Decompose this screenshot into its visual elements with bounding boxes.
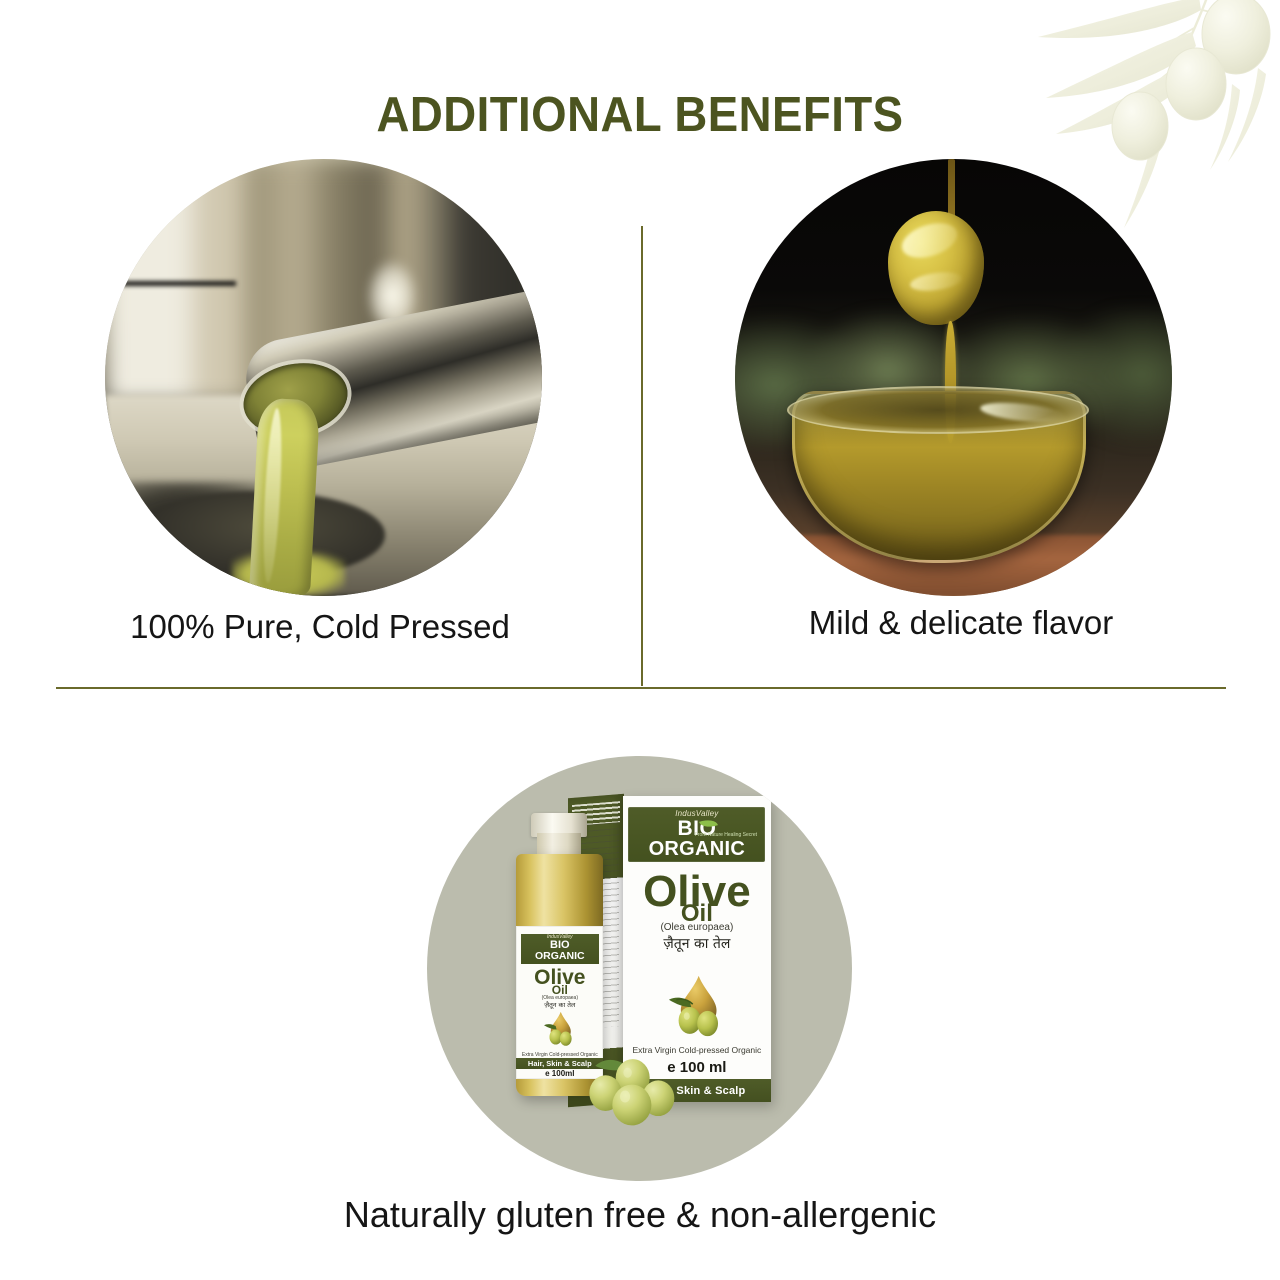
benefit-image-pure-cold-pressed bbox=[105, 159, 542, 596]
bottle-brand-organic: ORGANIC bbox=[535, 951, 585, 962]
caption-pure-cold-pressed: 100% Pure, Cold Pressed bbox=[0, 608, 640, 646]
oil-thread-top bbox=[948, 159, 955, 220]
bottle-oil-drop-artwork bbox=[539, 1010, 581, 1050]
brand-organic-text: ORGANIC bbox=[649, 839, 746, 859]
horizontal-divider bbox=[56, 687, 1226, 689]
caption-gluten-free: Naturally gluten free & non-allergenic bbox=[0, 1194, 1280, 1236]
olive-oil-stream bbox=[248, 398, 320, 596]
bottle-brand-bar: IndusValley BIO ORGANIC bbox=[521, 934, 599, 965]
branch-stems bbox=[1142, 0, 1258, 96]
benefit-image-mild-delicate-flavor bbox=[735, 159, 1172, 596]
bottle-hindi-name: ज़ैतून का तेल bbox=[516, 1002, 603, 1009]
brand-tagline: From Nature Healing Secret bbox=[695, 832, 757, 838]
caption-mild-delicate-flavor: Mild & delicate flavor bbox=[642, 604, 1280, 642]
page-title: ADDITIONAL BENEFITS bbox=[45, 91, 1235, 140]
infographic-canvas: ADDITIONAL BENEFITS 100% Pure, Cold Pres… bbox=[0, 0, 1280, 1280]
product-latin-name: (Olea europaea) bbox=[623, 923, 772, 933]
machine-shadow-bar bbox=[105, 281, 236, 286]
benefit-image-gluten-free: IndusValley BIO ORGANIC From Nature Heal… bbox=[427, 756, 852, 1181]
product-hindi-name: ज़ैतून का तेल bbox=[623, 937, 772, 951]
olive-cluster-foreground bbox=[580, 1054, 682, 1139]
oil-drop-olives-artwork bbox=[660, 962, 734, 1054]
bottle-latin-name: (Olea europaea) bbox=[516, 996, 603, 1001]
carton-brand-bar: IndusValley BIO ORGANIC From Nature Heal… bbox=[628, 807, 765, 862]
